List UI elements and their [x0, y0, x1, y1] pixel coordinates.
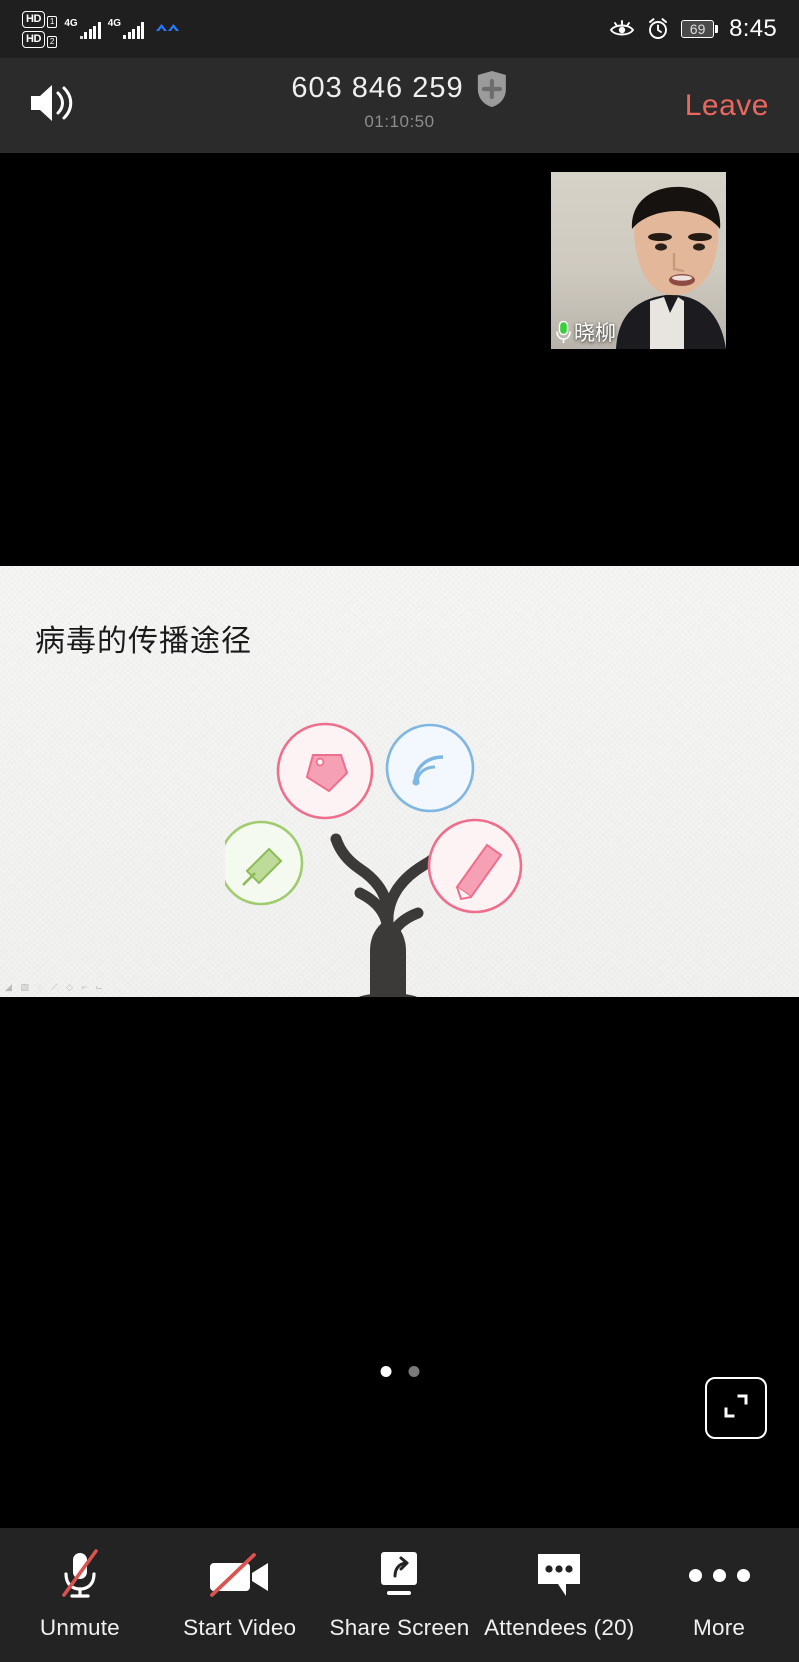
signal-bars-icon-1	[80, 21, 101, 39]
fullscreen-button[interactable]	[705, 1377, 767, 1439]
status-bar-clock: 8:45	[729, 15, 777, 43]
attendees-share-label: Share Screen	[330, 1615, 470, 1641]
battery-indicator: 69	[681, 20, 718, 39]
self-view-thumbnail[interactable]: 晓柳	[551, 172, 726, 349]
more-horizontal-icon	[689, 1549, 750, 1601]
android-status-bar: HD 1 HD 2 4G 4G	[0, 0, 799, 58]
eye-comfort-icon	[609, 18, 635, 40]
hd-badge-1: HD	[22, 11, 45, 28]
sim2-hd-indicator: HD 2	[22, 31, 57, 48]
microphone-muted-icon	[56, 1549, 104, 1601]
signal-indicator-2: 4G	[108, 19, 144, 39]
leave-meeting-button[interactable]: Leave	[685, 89, 769, 123]
meeting-info: 603 846 259 01:10:50	[291, 70, 507, 132]
slide-title: 病毒的传播途径	[35, 616, 252, 660]
network-type-label-2: 4G	[108, 19, 121, 29]
microphone-active-icon	[555, 320, 572, 344]
meeting-header-bar: 603 846 259 01:10:50 Leave	[0, 58, 799, 153]
start-video-label: Start Video	[183, 1615, 296, 1641]
start-video-button[interactable]: Start Video	[160, 1528, 320, 1662]
participant-name: 晓柳	[574, 317, 616, 347]
unmute-label: Unmute	[40, 1615, 120, 1641]
sim-number-2: 2	[47, 36, 57, 48]
meeting-controls-toolbar: Unmute Start Video Share Screen	[0, 1528, 799, 1662]
network-type-label-1: 4G	[64, 19, 77, 29]
more-label: More	[693, 1615, 745, 1641]
battery-percent: 69	[681, 20, 714, 39]
data-transfer-icon	[155, 21, 181, 38]
share-screen-icon	[373, 1549, 425, 1601]
page-dot-inactive[interactable]	[408, 1366, 419, 1377]
attendees-label: Attendees (20)	[484, 1615, 634, 1641]
status-bar-right: 69 8:45	[609, 15, 777, 43]
participant-video-image	[604, 181, 726, 349]
signal-bars-icon-2	[123, 21, 144, 39]
alarm-clock-icon	[646, 17, 670, 41]
chat-dots-icon	[532, 1549, 586, 1601]
sim-number-1: 1	[47, 16, 57, 28]
page-indicator[interactable]	[380, 1366, 419, 1377]
speaker-on-icon	[26, 80, 78, 131]
shield-plus-icon[interactable]	[476, 70, 508, 106]
attendees-button[interactable]: Attendees (20)	[479, 1528, 639, 1662]
meeting-id: 603 846 259	[291, 72, 463, 105]
signal-indicator-1: 4G	[64, 19, 100, 39]
share-screen-button[interactable]: Share Screen	[320, 1528, 480, 1662]
slide-icon-nodes	[225, 711, 585, 951]
speaker-toggle-button[interactable]	[24, 78, 80, 134]
sim1-hd-indicator: HD 1	[22, 11, 57, 28]
dual-sim-hd-indicators: HD 1 HD 2	[22, 11, 57, 48]
meeting-id-row: 603 846 259	[291, 70, 507, 106]
slide-watermark: ◢ ▨ ◌ ⟋ ◇ ⌐ ⌙	[5, 982, 106, 993]
video-stage[interactable]: 晓柳 病毒的传播途径	[0, 153, 799, 1458]
unmute-button[interactable]: Unmute	[0, 1528, 160, 1662]
hd-badge-2: HD	[22, 31, 45, 48]
video-off-icon	[206, 1549, 274, 1601]
battery-cap-icon	[715, 25, 718, 33]
more-button[interactable]: More	[639, 1528, 799, 1662]
shared-screen-slide[interactable]: 病毒的传播途径	[0, 566, 799, 997]
zoom-meeting-screen: HD 1 HD 2 4G 4G	[0, 0, 799, 1662]
meeting-elapsed-time: 01:10:50	[291, 112, 507, 132]
page-dot-active[interactable]	[380, 1366, 391, 1377]
participant-name-overlay: 晓柳	[555, 317, 616, 347]
fullscreen-expand-icon	[719, 1389, 753, 1428]
status-bar-left: HD 1 HD 2 4G 4G	[22, 11, 181, 48]
